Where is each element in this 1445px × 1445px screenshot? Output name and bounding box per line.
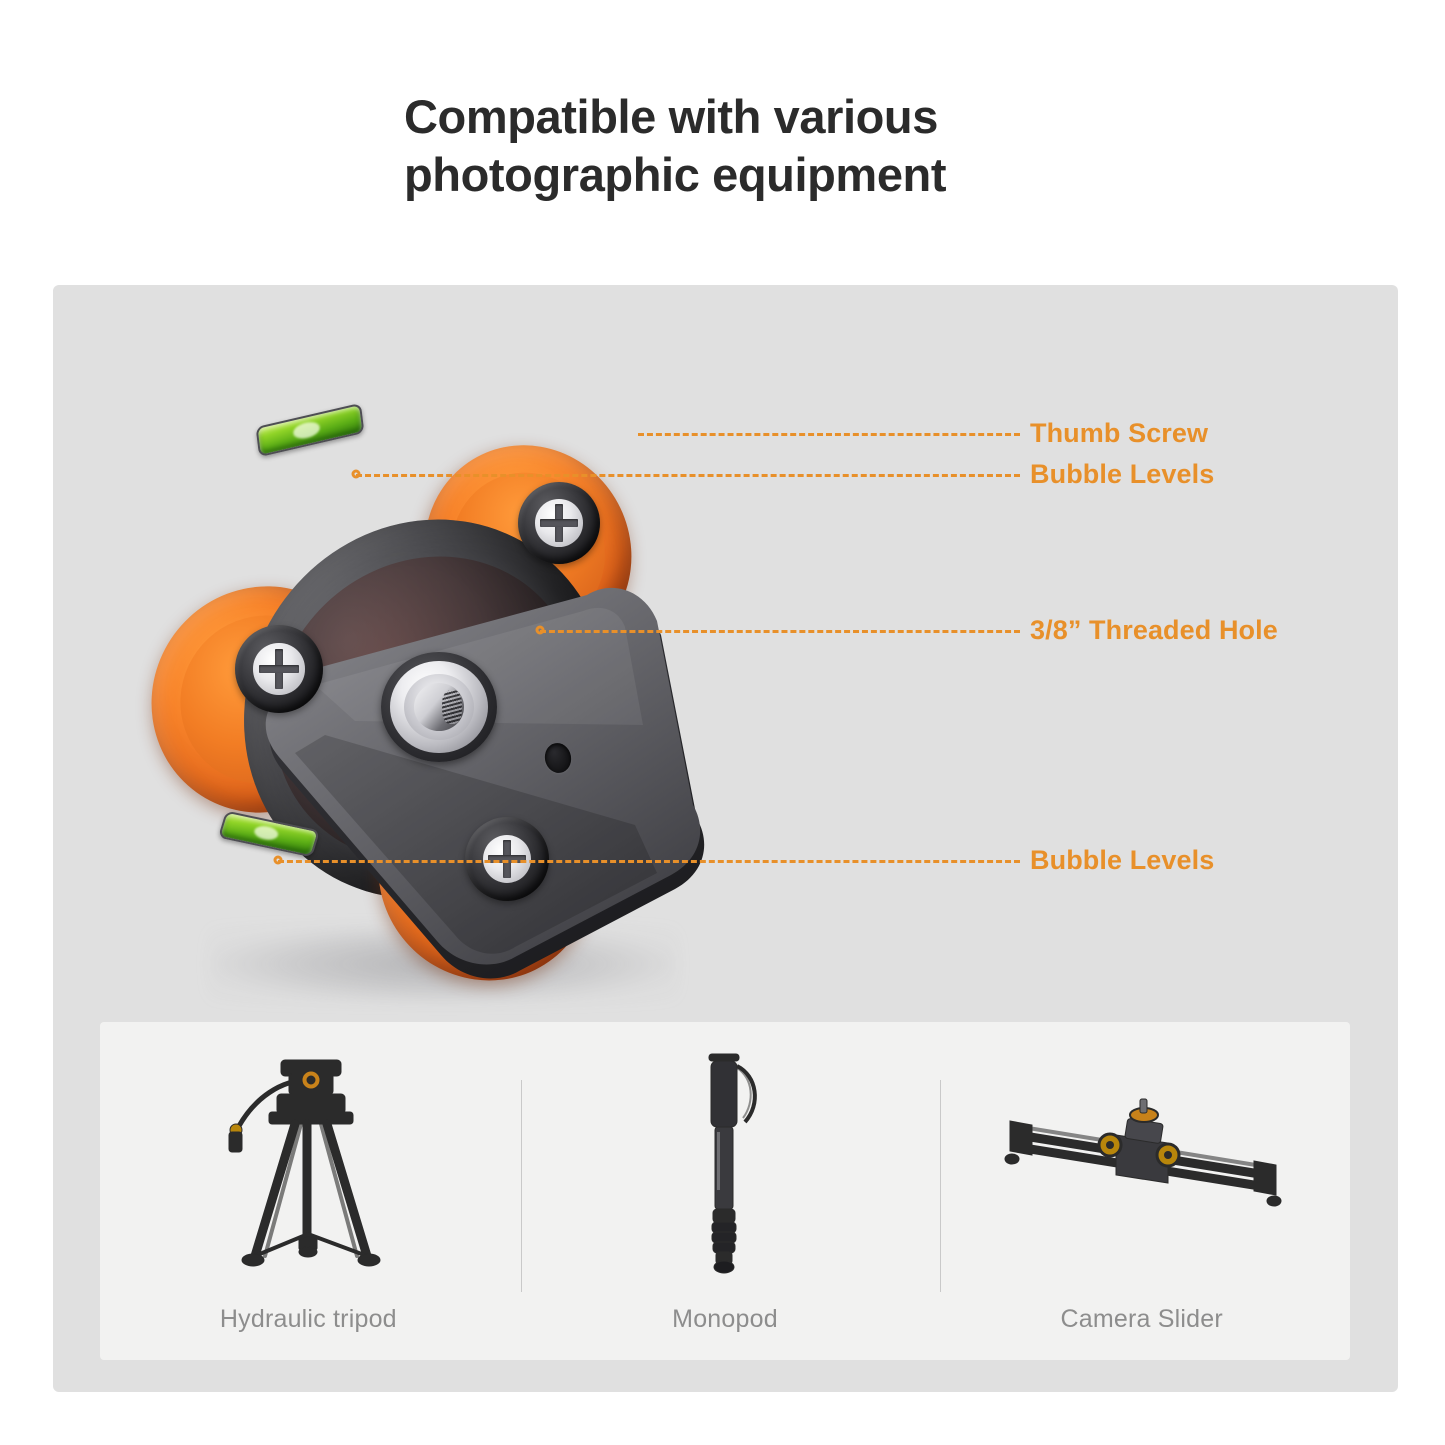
compatibility-panel: Hydraulic tripod [100, 1022, 1350, 1360]
callout-thumb-screw: Thumb Screw [1030, 418, 1208, 449]
phillips-screw-head [535, 499, 583, 547]
threaded-hole-inner-ring [404, 674, 474, 741]
threaded-hole-bore [414, 683, 465, 731]
phillips-screw [518, 482, 600, 564]
tripod-icon [100, 1022, 517, 1301]
compat-caption: Camera Slider [1060, 1305, 1222, 1334]
leader-line-bubble-levels-bottom [278, 860, 1020, 863]
page-title: Compatible with various photographic equ… [404, 88, 1104, 205]
compat-item-hydraulic-tripod: Hydraulic tripod [100, 1022, 517, 1360]
compat-item-monopod: Monopod [517, 1022, 934, 1360]
leader-anchor-threaded-hole [536, 626, 545, 635]
leader-line-bubble-levels-top [356, 474, 1020, 477]
phillips-screw [235, 625, 323, 713]
bubble-level-vial [256, 403, 365, 457]
callout-bubble-levels-top: Bubble Levels [1030, 459, 1214, 490]
leader-line-threaded-hole [540, 630, 1020, 633]
phillips-screw-head [483, 835, 532, 884]
leader-line-thumb-screw [638, 433, 1020, 436]
callout-bubble-levels-bottom: Bubble Levels [1030, 845, 1214, 876]
compat-item-camera-slider: Camera Slider [933, 1022, 1350, 1360]
phillips-screw-head [253, 643, 304, 694]
callout-threaded-hole: 3/8” Threaded Hole [1030, 615, 1278, 646]
threaded-hole [381, 652, 497, 762]
page-title-line-1: Compatible with various [404, 88, 1104, 146]
infographic-page: Compatible with various photographic equ… [0, 0, 1445, 1445]
slider-icon [933, 1022, 1350, 1301]
product-illustration [113, 365, 793, 1045]
page-title-line-2: photographic equipment [404, 146, 1104, 204]
compat-caption: Hydraulic tripod [220, 1305, 397, 1334]
leader-anchor-bubble-bottom [274, 856, 283, 865]
monopod-icon [517, 1022, 934, 1301]
phillips-screw [465, 817, 549, 901]
threaded-hole-outer-ring [390, 661, 487, 753]
leader-anchor-bubble-top [352, 470, 361, 479]
compat-caption: Monopod [672, 1305, 778, 1334]
